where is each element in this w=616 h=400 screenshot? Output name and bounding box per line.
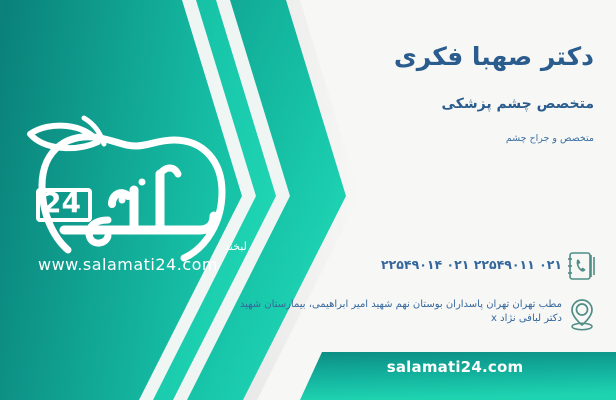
phone-numbers[interactable]: ۰۲۱ ۲۲۵۴۹۰۱۱ ۰۲۱ ۲۲۵۴۹۰۱۴ bbox=[232, 246, 562, 272]
doctor-name: دکتر صهبا فکری bbox=[264, 42, 594, 71]
clinic-address[interactable]: مطب تهران تهران پاسداران بوستان نهم شهید… bbox=[232, 294, 562, 326]
location-pin-icon bbox=[562, 294, 602, 334]
footer-website[interactable]: salamati24.com bbox=[330, 358, 580, 376]
sub-specialty-text: متخصص و جراح چشم bbox=[264, 133, 594, 144]
phone-book-icon bbox=[562, 246, 602, 286]
contact-block: ۰۲۱ ۲۲۵۴۹۰۱۱ ۰۲۱ ۲۲۵۴۹۰۱۴ مطب تهران تهرا… bbox=[232, 246, 602, 342]
specialty-title: متخصص چشم پزشکی bbox=[264, 96, 594, 112]
business-card: 24 براحتی یک لبخند www.salamati24.com دک… bbox=[0, 0, 616, 400]
phone-row: ۰۲۱ ۲۲۵۴۹۰۱۱ ۰۲۱ ۲۲۵۴۹۰۱۴ bbox=[232, 246, 602, 286]
address-row: مطب تهران تهران پاسداران بوستان نهم شهید… bbox=[232, 294, 602, 334]
